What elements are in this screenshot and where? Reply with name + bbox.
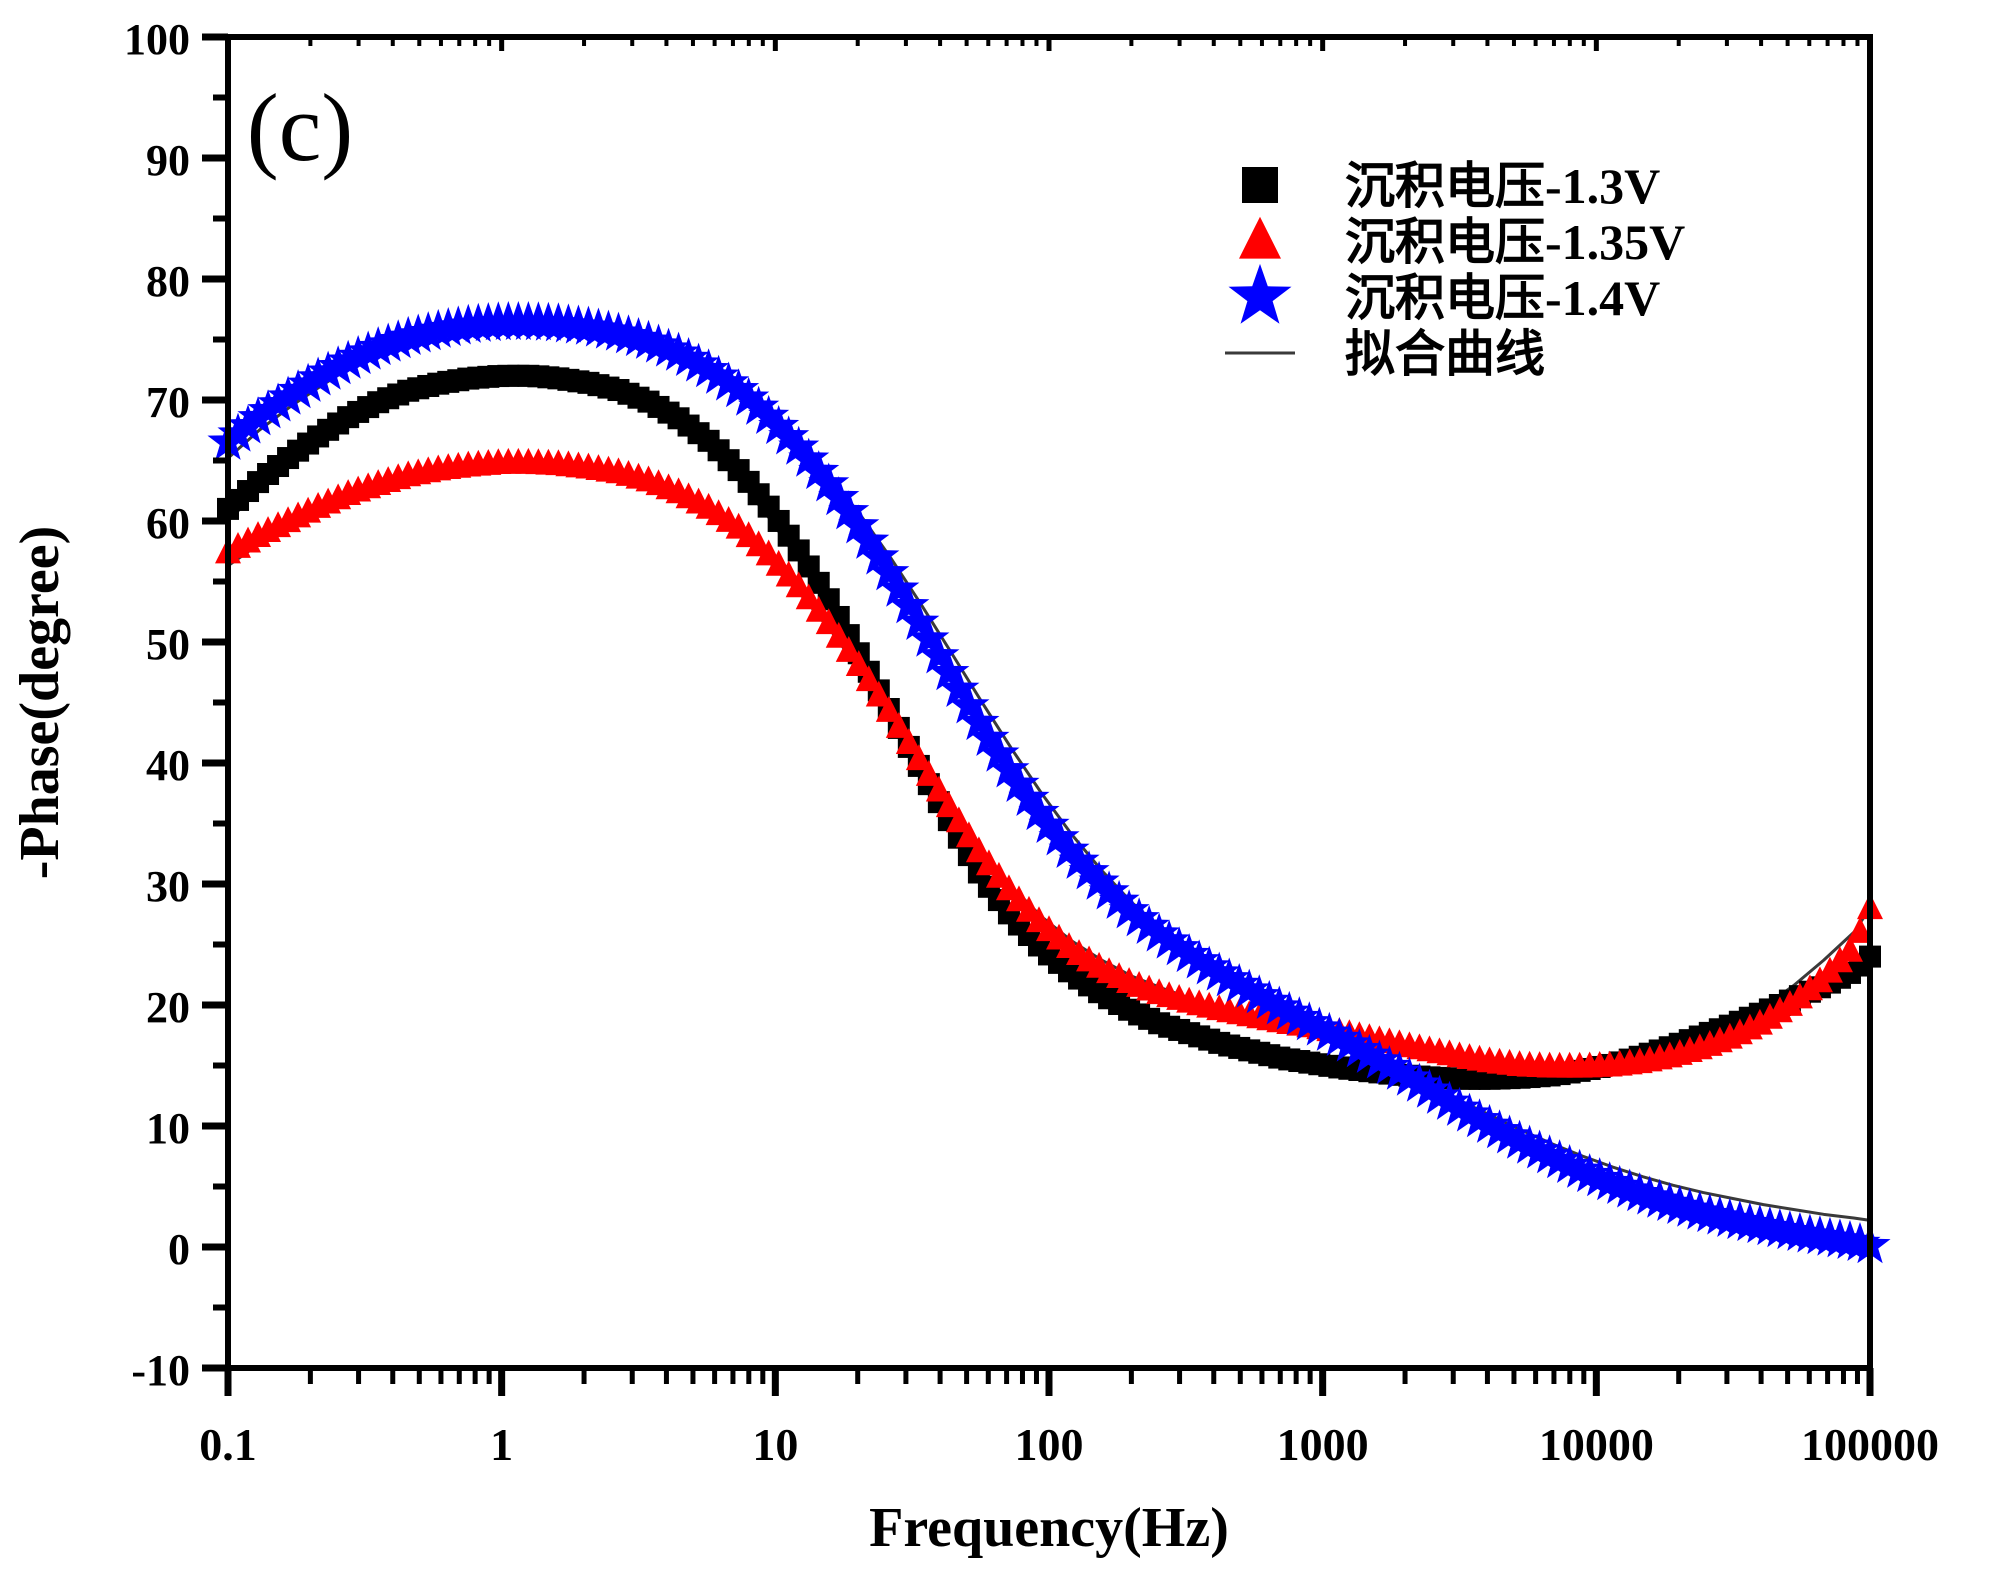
x-axis-title: Frequency(Hz)	[869, 1497, 1229, 1559]
data-series-layer	[207, 301, 1890, 1263]
y-tick-label: 90	[146, 136, 190, 185]
figure-panel-c: -1001020304050607080901000.1110100100010…	[0, 0, 2000, 1596]
x-tick-label: 1000	[1277, 1419, 1369, 1470]
fit-curve	[228, 376, 1870, 1085]
marker-triangle	[1239, 217, 1281, 259]
x-tick-label: 0.1	[199, 1419, 257, 1470]
x-tick-label: 100	[1015, 1419, 1084, 1470]
fit-curve	[228, 463, 1870, 1066]
phase-bode-chart: -1001020304050607080901000.1110100100010…	[0, 0, 2000, 1596]
y-tick-label: 70	[146, 378, 190, 427]
y-tick-label: 40	[146, 741, 190, 790]
y-axis-title: -Phase(degree)	[9, 526, 71, 880]
x-tick-label: 1	[490, 1419, 513, 1470]
x-tick-label: 10	[752, 1419, 798, 1470]
y-tick-label: 60	[146, 499, 190, 548]
panel-label: (c)	[247, 74, 354, 181]
y-tick-label: 0	[168, 1225, 190, 1274]
y-tick-label: 50	[146, 620, 190, 669]
y-tick-label: 10	[146, 1104, 190, 1153]
legend-label: 沉积电压-1.4V	[1345, 270, 1660, 326]
x-tick-label: 100000	[1801, 1419, 1939, 1470]
marker-star	[1229, 264, 1292, 324]
legend-label: 拟合曲线	[1345, 326, 1545, 382]
legend-layer: 沉积电压-1.3V沉积电压-1.35V沉积电压-1.4V拟合曲线	[1225, 158, 1685, 382]
y-tick-label: -10	[131, 1346, 190, 1395]
legend-label: 沉积电压-1.35V	[1345, 214, 1685, 270]
x-tick-label: 10000	[1539, 1419, 1654, 1470]
y-tick-label: 30	[146, 862, 190, 911]
y-tick-label: 20	[146, 983, 190, 1032]
series-star	[207, 301, 1890, 1263]
legend-label: 沉积电压-1.3V	[1345, 158, 1660, 214]
marker-square	[1242, 167, 1278, 203]
series-triangle	[215, 448, 1883, 1078]
y-tick-label: 80	[146, 257, 190, 306]
y-tick-label: 100	[124, 15, 190, 64]
